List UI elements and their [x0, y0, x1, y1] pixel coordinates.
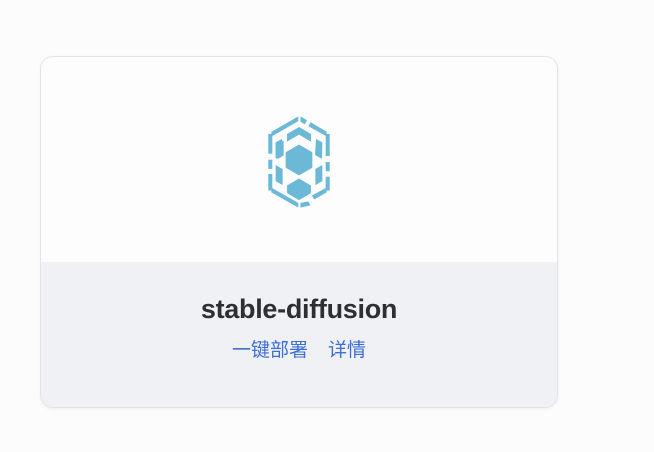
details-link[interactable]: 详情 [328, 340, 366, 363]
card-logo-area [41, 57, 557, 262]
stable-diffusion-hexagon-cubes-logo-icon [253, 114, 345, 210]
card-info-area: stable-diffusion 一键部署 详情 [41, 262, 557, 407]
page-canvas: stable-diffusion 一键部署 详情 [0, 0, 654, 452]
page-title: stable-diffusion [201, 295, 397, 325]
one-click-deploy-link[interactable]: 一键部署 [232, 340, 308, 363]
app-card-stable-diffusion[interactable]: stable-diffusion 一键部署 详情 [40, 56, 558, 408]
card-action-row: 一键部署 详情 [232, 340, 366, 363]
